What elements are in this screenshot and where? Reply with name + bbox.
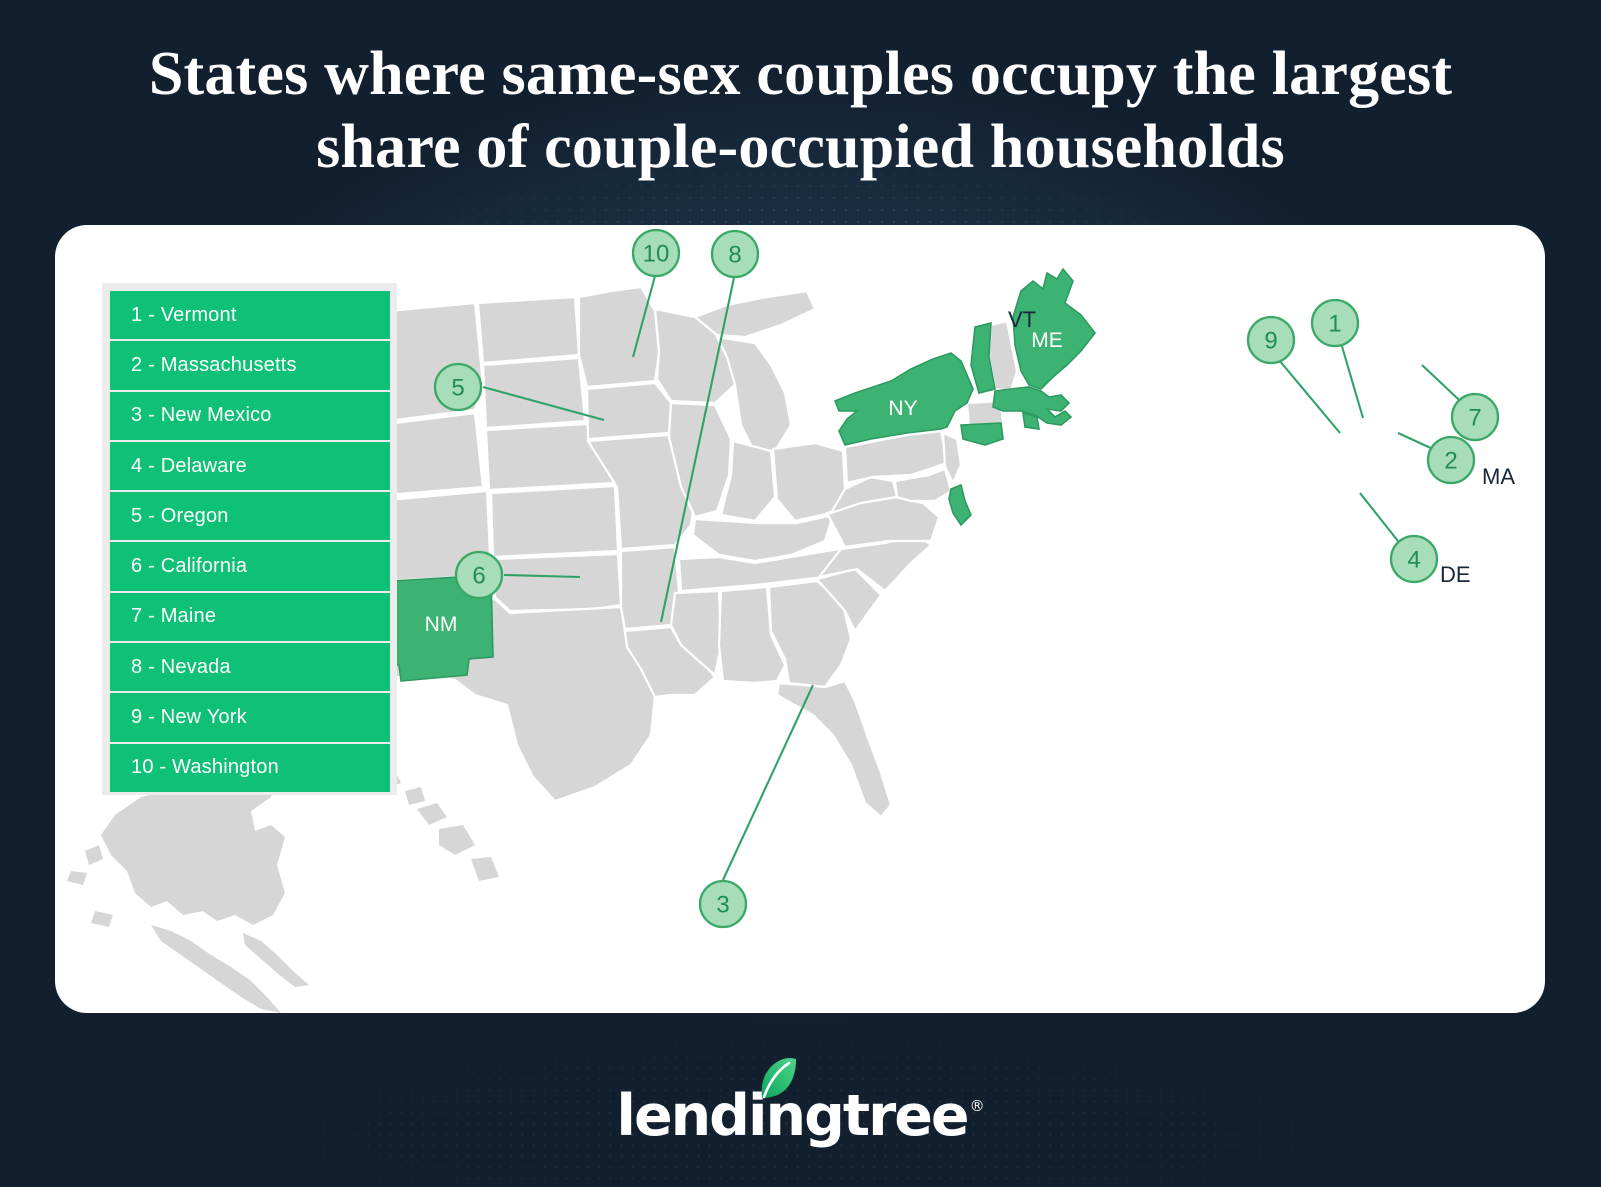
legend-item-label: 4 - Delaware	[131, 455, 247, 478]
legend-item-2[interactable]: 2 - Massachusetts	[110, 341, 390, 389]
legend-item-label: 2 - Massachusetts	[131, 354, 297, 377]
legend-item-7[interactable]: 7 - Maine	[110, 593, 390, 641]
content-card: WA OR NV CA NM NY ME VT MA DE 1 - Vermon…	[55, 225, 1545, 1013]
legend-item-1[interactable]: 1 - Vermont	[110, 291, 390, 339]
map-label-VT: VT	[1008, 307, 1036, 332]
legend-item-label: 10 - Washington	[131, 756, 279, 779]
state-kansas	[491, 486, 618, 557]
legend-item-6[interactable]: 6 - California	[110, 542, 390, 590]
map-label-NY: NY	[888, 397, 917, 420]
legend-item-5[interactable]: 5 - Oregon	[110, 492, 390, 540]
legend-item-9[interactable]: 9 - New York	[110, 693, 390, 741]
leaf-icon	[759, 1057, 797, 1101]
legend-item-3[interactable]: 3 - New Mexico	[110, 392, 390, 440]
state-michigan-upper	[695, 291, 815, 337]
legend-item-label: 6 - California	[131, 555, 247, 578]
legend-item-label: 7 - Maine	[131, 605, 216, 628]
state-south-dakota	[483, 358, 585, 428]
legend-panel: 1 - Vermont 2 - Massachusetts 3 - New Me…	[102, 283, 397, 795]
legend-item-label: 8 - Nevada	[131, 656, 231, 679]
lendingtree-logo[interactable]: lendingtree ®	[616, 1088, 984, 1145]
map-label-DE: DE	[1440, 562, 1471, 587]
state-florida	[777, 681, 891, 817]
state-iowa	[587, 383, 671, 439]
legend-item-label: 5 - Oregon	[131, 505, 229, 528]
state-oklahoma	[493, 554, 621, 611]
state-connecticut-highlight	[961, 423, 1003, 445]
state-arkansas	[621, 547, 679, 629]
registered-trademark-mark: ®	[970, 1097, 985, 1115]
page-title: States where same-sex couples occupy the…	[0, 38, 1601, 184]
page-title-line-1: States where same-sex couples occupy the…	[149, 40, 1452, 108]
legend-item-label: 1 - Vermont	[131, 304, 237, 327]
state-north-dakota	[478, 297, 579, 363]
page-title-line-2: share of couple-occupied households	[120, 111, 1481, 184]
map-label-ME: ME	[1031, 329, 1063, 352]
legend-item-label: 3 - New Mexico	[131, 404, 272, 427]
legend-item-10[interactable]: 10 - Washington	[110, 744, 390, 792]
legend-item-4[interactable]: 4 - Delaware	[110, 442, 390, 490]
map-label-NM: NM	[425, 613, 458, 636]
map-outside-labels: VT MA DE	[1008, 307, 1515, 587]
footer: lendingtree ®	[0, 1088, 1601, 1145]
state-alaska	[67, 765, 309, 1013]
state-minnesota	[579, 287, 659, 387]
legend-item-8[interactable]: 8 - Nevada	[110, 643, 390, 691]
state-colorado	[388, 491, 491, 581]
legend-item-label: 9 - New York	[131, 706, 247, 729]
map-label-MA: MA	[1482, 464, 1515, 489]
state-delaware-highlight	[949, 485, 971, 525]
